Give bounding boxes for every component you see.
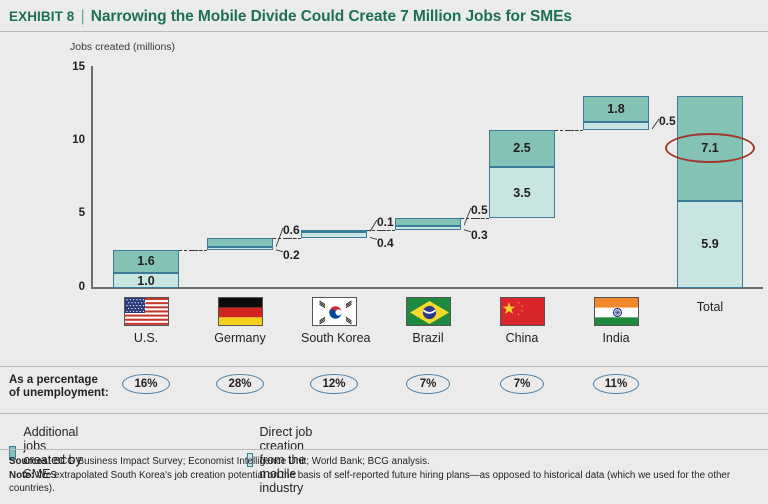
flag-india-icon	[594, 297, 639, 326]
bar-segment-dark-south-korea	[301, 230, 367, 232]
flag-south-korea-icon	[312, 297, 357, 326]
pct-badge-india: 11%	[593, 374, 639, 394]
pct-badge-us: 16%	[122, 374, 169, 394]
waterfall-base-line-brazil	[379, 230, 395, 231]
note-line: Note: We extrapolated South Korea's job …	[9, 469, 761, 496]
sources-label: Sources:	[9, 456, 51, 467]
waterfall-base-line-south-korea	[285, 238, 301, 239]
bar-column-us[interactable]: 1.01.6	[113, 250, 179, 288]
bar-column-germany[interactable]	[207, 238, 273, 250]
flag-cell-china: China	[489, 297, 555, 345]
pct-divider	[0, 413, 768, 414]
bar-segment-light-brazil	[395, 226, 461, 230]
bar-segment-dark-brazil	[395, 218, 461, 225]
bar-column-india[interactable]: 1.8	[583, 96, 649, 130]
bar-segment-light-total: 5.9	[677, 201, 743, 288]
legend-divider	[0, 449, 768, 450]
flags-divider	[0, 366, 768, 367]
bar-segment-light-south-korea	[301, 232, 367, 238]
y-axis-title: Jobs created (millions)	[70, 41, 175, 53]
waterfall-chart-plot: 1.01.60.60.2 0.10.4 0.50.3 3.52.51.80.5 …	[91, 66, 763, 288]
country-label-south-korea: South Korea	[301, 331, 367, 345]
bar-segment-dark-india: 1.8	[583, 96, 649, 123]
country-label-us: U.S.	[113, 331, 179, 345]
pct-cell-south-korea: 12%	[295, 374, 373, 394]
bar-leader-lines-brazil	[464, 204, 476, 238]
country-flags-row: U.S. Germany	[91, 297, 763, 363]
footnotes: Sources: BCG Business Impact Survey; Eco…	[9, 455, 761, 496]
bar-segment-light-india	[583, 122, 649, 129]
waterfall-base-line-germany	[191, 250, 207, 251]
pct-cell-germany: 28%	[201, 374, 279, 394]
bar-segment-light-us: 1.0	[113, 273, 179, 288]
waterfall-base-line-china	[473, 218, 489, 219]
pct-cell-us: 16%	[107, 374, 185, 394]
total-label: Total	[677, 300, 743, 314]
country-label-germany: Germany	[207, 331, 273, 345]
flag-china-icon	[500, 297, 545, 326]
pct-cell-india: 11%	[577, 374, 655, 394]
sources-text: BCG Business Impact Survey; Economist In…	[54, 456, 430, 467]
bar-leader-lines-germany	[276, 224, 288, 258]
bar-segment-dark-germany	[207, 238, 273, 247]
bar-segment-dark-china: 2.5	[489, 130, 555, 167]
bar-leader-lines-india	[652, 116, 662, 137]
title-divider	[0, 31, 768, 32]
y-tick-5: 5	[57, 207, 85, 219]
bar-column-china[interactable]: 3.52.5	[489, 130, 555, 219]
y-tick-0: 0	[57, 281, 85, 293]
country-label-china: China	[489, 331, 555, 345]
pct-badge-china: 7%	[500, 374, 544, 394]
unemployment-pct-row: 16%28%12%7%7%11%	[91, 374, 763, 404]
bar-segment-dark-us: 1.6	[113, 250, 179, 274]
pct-badge-germany: 28%	[216, 374, 263, 394]
pct-cell-china: 7%	[483, 374, 561, 394]
bar-column-brazil[interactable]	[395, 218, 461, 230]
flag-brazil-icon	[406, 297, 451, 326]
waterfall-base-line-india	[567, 130, 583, 131]
y-tick-15: 15	[57, 61, 85, 73]
note-label: Note:	[9, 470, 34, 481]
country-label-brazil: Brazil	[395, 331, 461, 345]
pct-badge-south-korea: 12%	[310, 374, 357, 394]
bar-column-south-korea[interactable]	[301, 230, 367, 237]
flag-cell-brazil: Brazil	[395, 297, 461, 345]
sources-line: Sources: BCG Business Impact Survey; Eco…	[9, 455, 761, 469]
page-title: EXHIBIT 8 | Narrowing the Mobile Divide …	[9, 8, 572, 26]
flag-us-icon	[124, 297, 169, 326]
pct-badge-brazil: 7%	[406, 374, 450, 394]
bar-segment-dark-total: 7.1	[677, 96, 743, 201]
flag-germany-icon	[218, 297, 263, 326]
bar-column-total[interactable]: 5.97.1	[677, 96, 743, 288]
title-headline: Narrowing the Mobile Divide Could Create…	[91, 8, 572, 25]
pct-cell-brazil: 7%	[389, 374, 467, 394]
flag-cell-total: Total	[677, 297, 743, 314]
flag-cell-germany: Germany	[207, 297, 273, 345]
flag-cell-south-korea: South Korea	[301, 297, 367, 345]
bar-segment-light-germany	[207, 247, 273, 250]
flag-cell-india: India	[583, 297, 649, 345]
note-text: We extrapolated South Korea's job creati…	[9, 470, 730, 495]
y-tick-10: 10	[57, 134, 85, 146]
bar-segment-light-china: 3.5	[489, 167, 555, 219]
flag-cell-us: U.S.	[113, 297, 179, 345]
country-label-india: India	[583, 331, 649, 345]
